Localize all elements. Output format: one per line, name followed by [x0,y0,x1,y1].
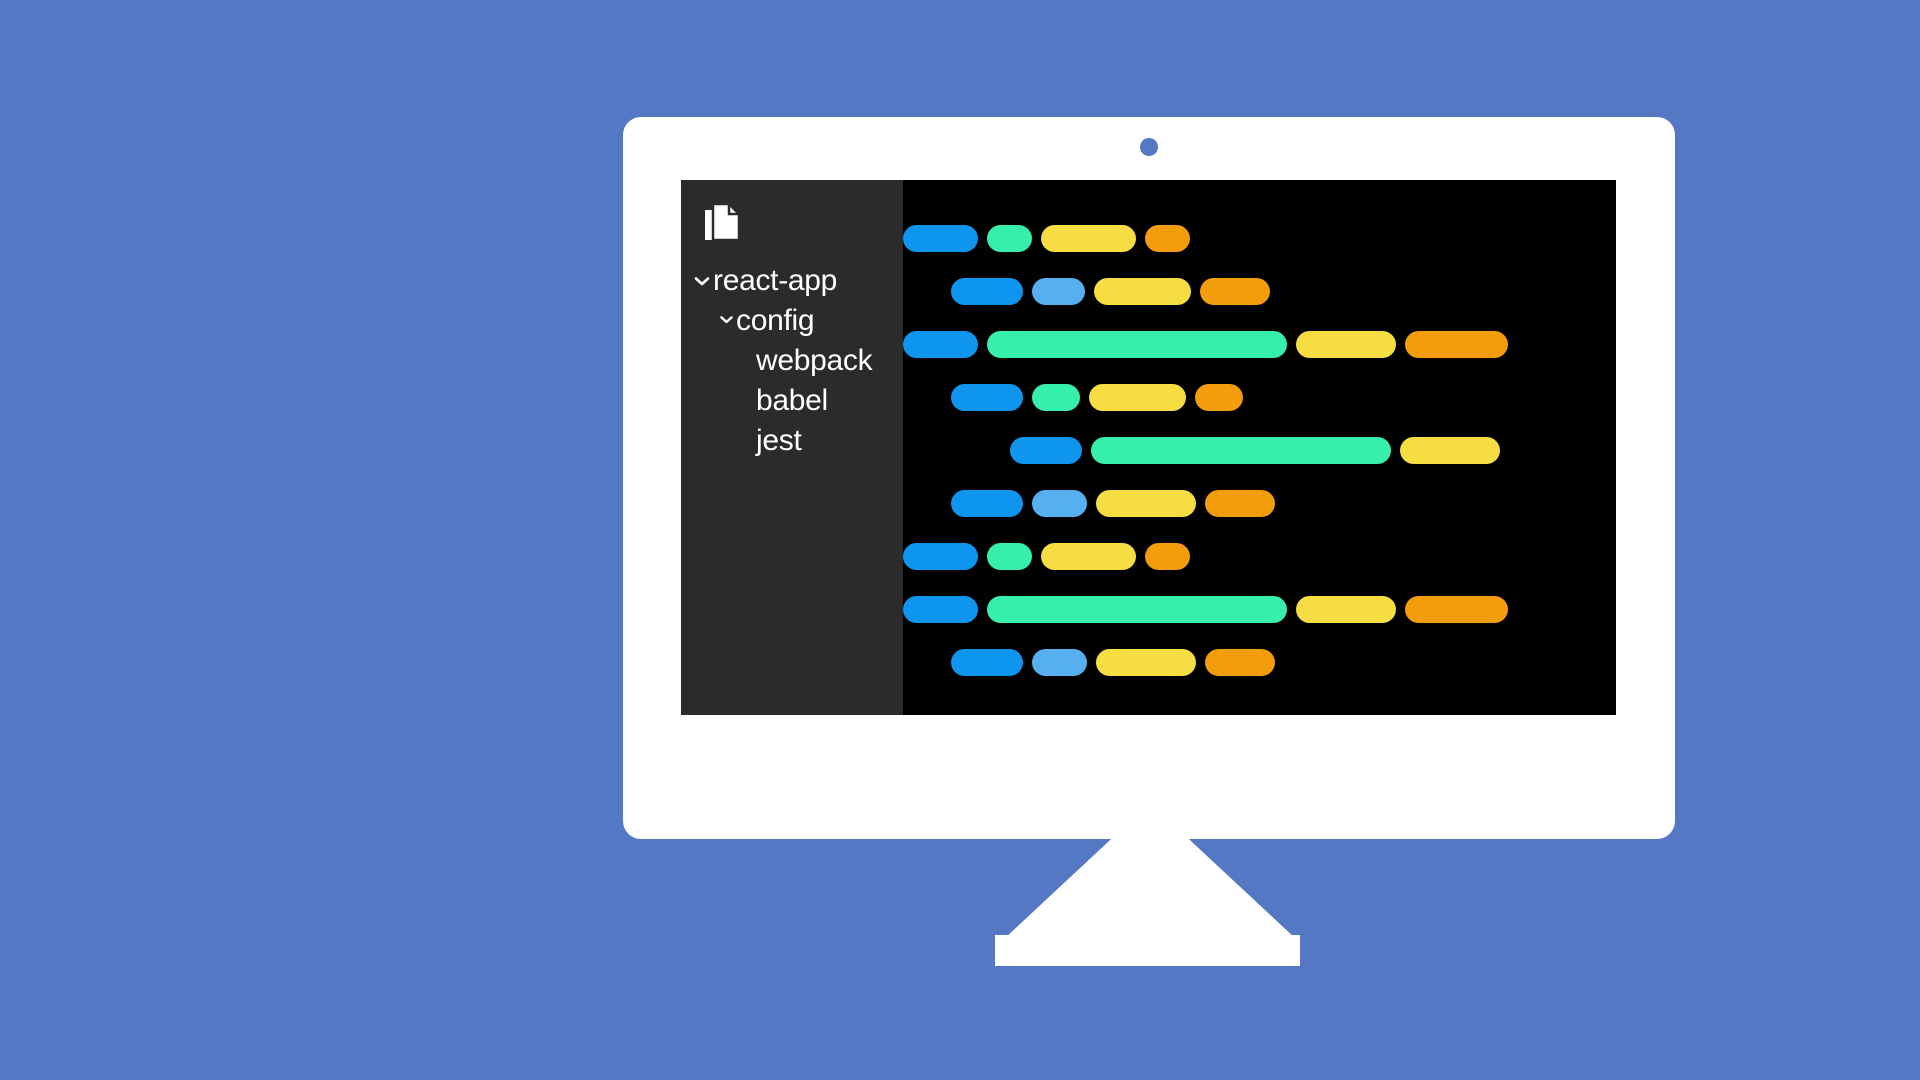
code-token-yellow [1296,331,1396,358]
monitor-screen: react-app config webpack babel jest [681,180,1616,715]
code-token-yellow [1041,225,1136,252]
code-token-blue [903,596,978,623]
monitor-stand-neck [1005,838,1295,938]
code-token-orange [1405,331,1508,358]
tree-item-label: jest [756,421,802,461]
code-token-yellow [1296,596,1396,623]
tree-item-label: config [736,301,814,341]
code-token-blue [903,225,978,252]
code-token-yellow [1096,490,1196,517]
code-token-blue [951,384,1023,411]
code-token-blue [1010,437,1082,464]
code-line [903,371,1616,424]
tree-item-babel[interactable]: babel [681,381,903,421]
code-line [903,318,1616,371]
code-token-yellow [1041,543,1136,570]
code-token-green [987,225,1032,252]
code-token-orange [1145,225,1190,252]
code-line [903,583,1616,636]
webcam-icon [1140,138,1158,156]
code-token-orange [1205,490,1275,517]
tree-item-label: webpack [756,341,872,381]
code-line [903,265,1616,318]
code-token-blue [951,649,1023,676]
code-token-green [1091,437,1391,464]
code-line [903,636,1616,689]
code-token-orange [1205,649,1275,676]
code-line [903,477,1616,530]
chevron-down-icon[interactable] [718,311,735,331]
code-line [903,424,1616,477]
code-token-blue [951,490,1023,517]
code-token-orange [1195,384,1243,411]
code-line [903,530,1616,583]
tree-item-jest[interactable]: jest [681,421,903,461]
code-token-orange [1200,278,1270,305]
chevron-down-icon[interactable] [692,271,712,291]
code-token-green [987,331,1287,358]
tree-item-webpack[interactable]: webpack [681,341,903,381]
code-token-light-blue [1032,278,1085,305]
illustration-scene: react-app config webpack babel jest [0,0,1920,1080]
code-token-blue [951,278,1023,305]
tree-item-label: react-app [713,261,837,301]
tree-item-config[interactable]: config [681,301,903,341]
code-token-blue [903,543,978,570]
code-line [903,212,1616,265]
code-token-yellow [1096,649,1196,676]
code-token-orange [1405,596,1508,623]
code-token-green [987,596,1287,623]
code-editor-area[interactable] [903,180,1616,715]
code-token-light-blue [1032,649,1087,676]
tree-item-react-app[interactable]: react-app [681,261,903,301]
monitor-stand-base [995,935,1300,966]
code-token-yellow [1094,278,1191,305]
code-token-green [1032,384,1080,411]
tree-item-label: babel [756,381,828,421]
file-copy-icon [681,202,903,255]
code-token-yellow [1089,384,1186,411]
code-token-blue [903,331,978,358]
code-token-light-blue [1032,490,1087,517]
code-token-orange [1145,543,1190,570]
file-tree-sidebar: react-app config webpack babel jest [681,180,903,715]
code-token-yellow [1400,437,1500,464]
code-token-green [987,543,1032,570]
